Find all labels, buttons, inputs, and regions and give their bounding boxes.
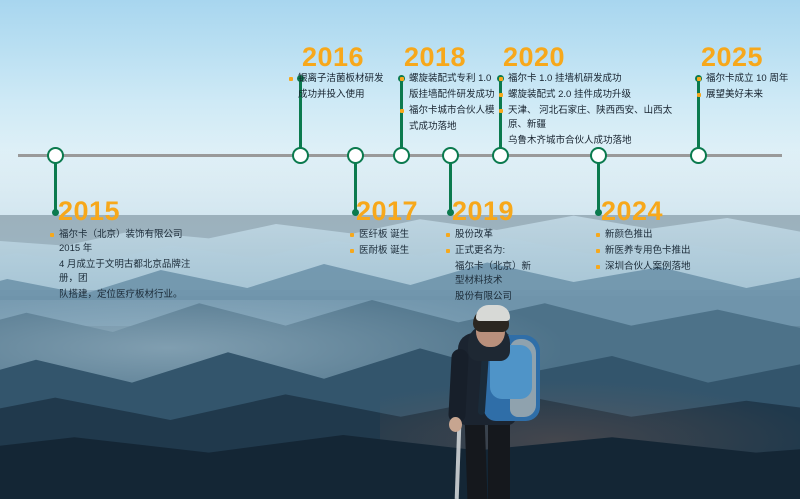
milestone-bullet: 螺旋装配式 2.0 挂件成功升级: [499, 88, 681, 102]
milestone-bullet: 乌鲁木齐城市合伙人成功落地: [499, 134, 681, 148]
year-label-2020: 2020: [503, 44, 565, 71]
year-label-2015: 2015: [58, 198, 120, 225]
milestone-text-2018: 螺旋装配式专利 1.0版挂墙配件研发成功福尔卡城市合伙人模式成功落地: [400, 72, 504, 136]
milestone-bullet: 式成功落地: [400, 120, 504, 134]
milestone-stem-2015: [54, 156, 57, 212]
trekking-pole: [455, 425, 462, 499]
milestone-bullet: 正式更名为:: [446, 244, 538, 258]
milestone-bullet: 天津、 河北石家庄、陕西西安、山西太原、新疆: [499, 104, 681, 132]
milestone-bullet: 版挂墙配件研发成功: [400, 88, 504, 102]
milestone-bullet: 队搭建，定位医疗板材行业。: [50, 288, 206, 302]
year-label-2019: 2019: [452, 198, 514, 225]
milestone-bullet: 新颜色推出: [596, 228, 716, 242]
milestone-bullet: 医纤板 诞生: [350, 228, 440, 242]
milestone-bullet: 福尔卡城市合伙人模: [400, 104, 504, 118]
timeline-node-2025[interactable]: [690, 147, 707, 164]
hiker-leg-left: [465, 417, 488, 499]
milestone-bullet: 福尔卡 1.0 挂墙机研发成功: [499, 72, 681, 86]
milestone-stem-2024: [597, 156, 600, 212]
hiker-leg-right: [488, 417, 510, 499]
year-label-2025: 2025: [701, 44, 763, 71]
milestone-bullet: 4 月成立于文明古都北京品牌注册，团: [50, 258, 206, 286]
timeline-infographic: 2015福尔卡（北京）装饰有限公司 2015 年4 月成立于文明古都北京品牌注册…: [0, 0, 800, 499]
milestone-text-2019: 股份改革正式更名为:福尔卡（北京）新型材料技术股份有限公司: [446, 228, 538, 306]
milestone-text-2025: 福尔卡成立 10 周年展望美好未来: [697, 72, 797, 104]
milestone-bullet: 银离子洁菌板材研发: [289, 72, 393, 86]
milestone-bullet: 股份改革: [446, 228, 538, 242]
year-label-2017: 2017: [356, 198, 418, 225]
hiker-figure: [432, 305, 558, 499]
milestone-bullet: 展望美好未来: [697, 88, 797, 102]
year-label-2024: 2024: [601, 198, 663, 225]
milestone-bullet: 深圳合伙人案例落地: [596, 260, 716, 274]
milestone-bullet: 医耐板 诞生: [350, 244, 440, 258]
milestone-bullet: 福尔卡（北京）装饰有限公司 2015 年: [50, 228, 206, 256]
milestone-text-2020: 福尔卡 1.0 挂墙机研发成功螺旋装配式 2.0 挂件成功升级天津、 河北石家庄…: [499, 72, 681, 150]
year-label-2016: 2016: [302, 44, 364, 71]
timeline-node-2015[interactable]: [47, 147, 64, 164]
milestone-bullet: 福尔卡（北京）新型材料技术: [446, 260, 538, 288]
timeline-node-2018[interactable]: [393, 147, 410, 164]
milestone-text-2024: 新颜色推出新医养专用色卡推出深圳合伙人案例落地: [596, 228, 716, 276]
timeline-node-2017[interactable]: [347, 147, 364, 164]
milestone-bullet: 新医养专用色卡推出: [596, 244, 716, 258]
timeline-node-2019[interactable]: [442, 147, 459, 164]
year-label-2018: 2018: [404, 44, 466, 71]
milestone-bullet: 股份有限公司: [446, 290, 538, 304]
timeline-node-2024[interactable]: [590, 147, 607, 164]
milestone-bullet: 福尔卡成立 10 周年: [697, 72, 797, 86]
timeline-node-2016[interactable]: [292, 147, 309, 164]
milestone-text-2017: 医纤板 诞生医耐板 诞生: [350, 228, 440, 260]
milestone-bullet: 成功并投入使用: [289, 88, 393, 102]
milestone-text-2016: 银离子洁菌板材研发成功并投入使用: [289, 72, 393, 104]
milestone-text-2015: 福尔卡（北京）装饰有限公司 2015 年4 月成立于文明古都北京品牌注册，团队搭…: [50, 228, 206, 304]
hiker-hand: [449, 417, 462, 432]
hiker-cap: [476, 305, 510, 321]
milestone-bullet: 螺旋装配式专利 1.0: [400, 72, 504, 86]
